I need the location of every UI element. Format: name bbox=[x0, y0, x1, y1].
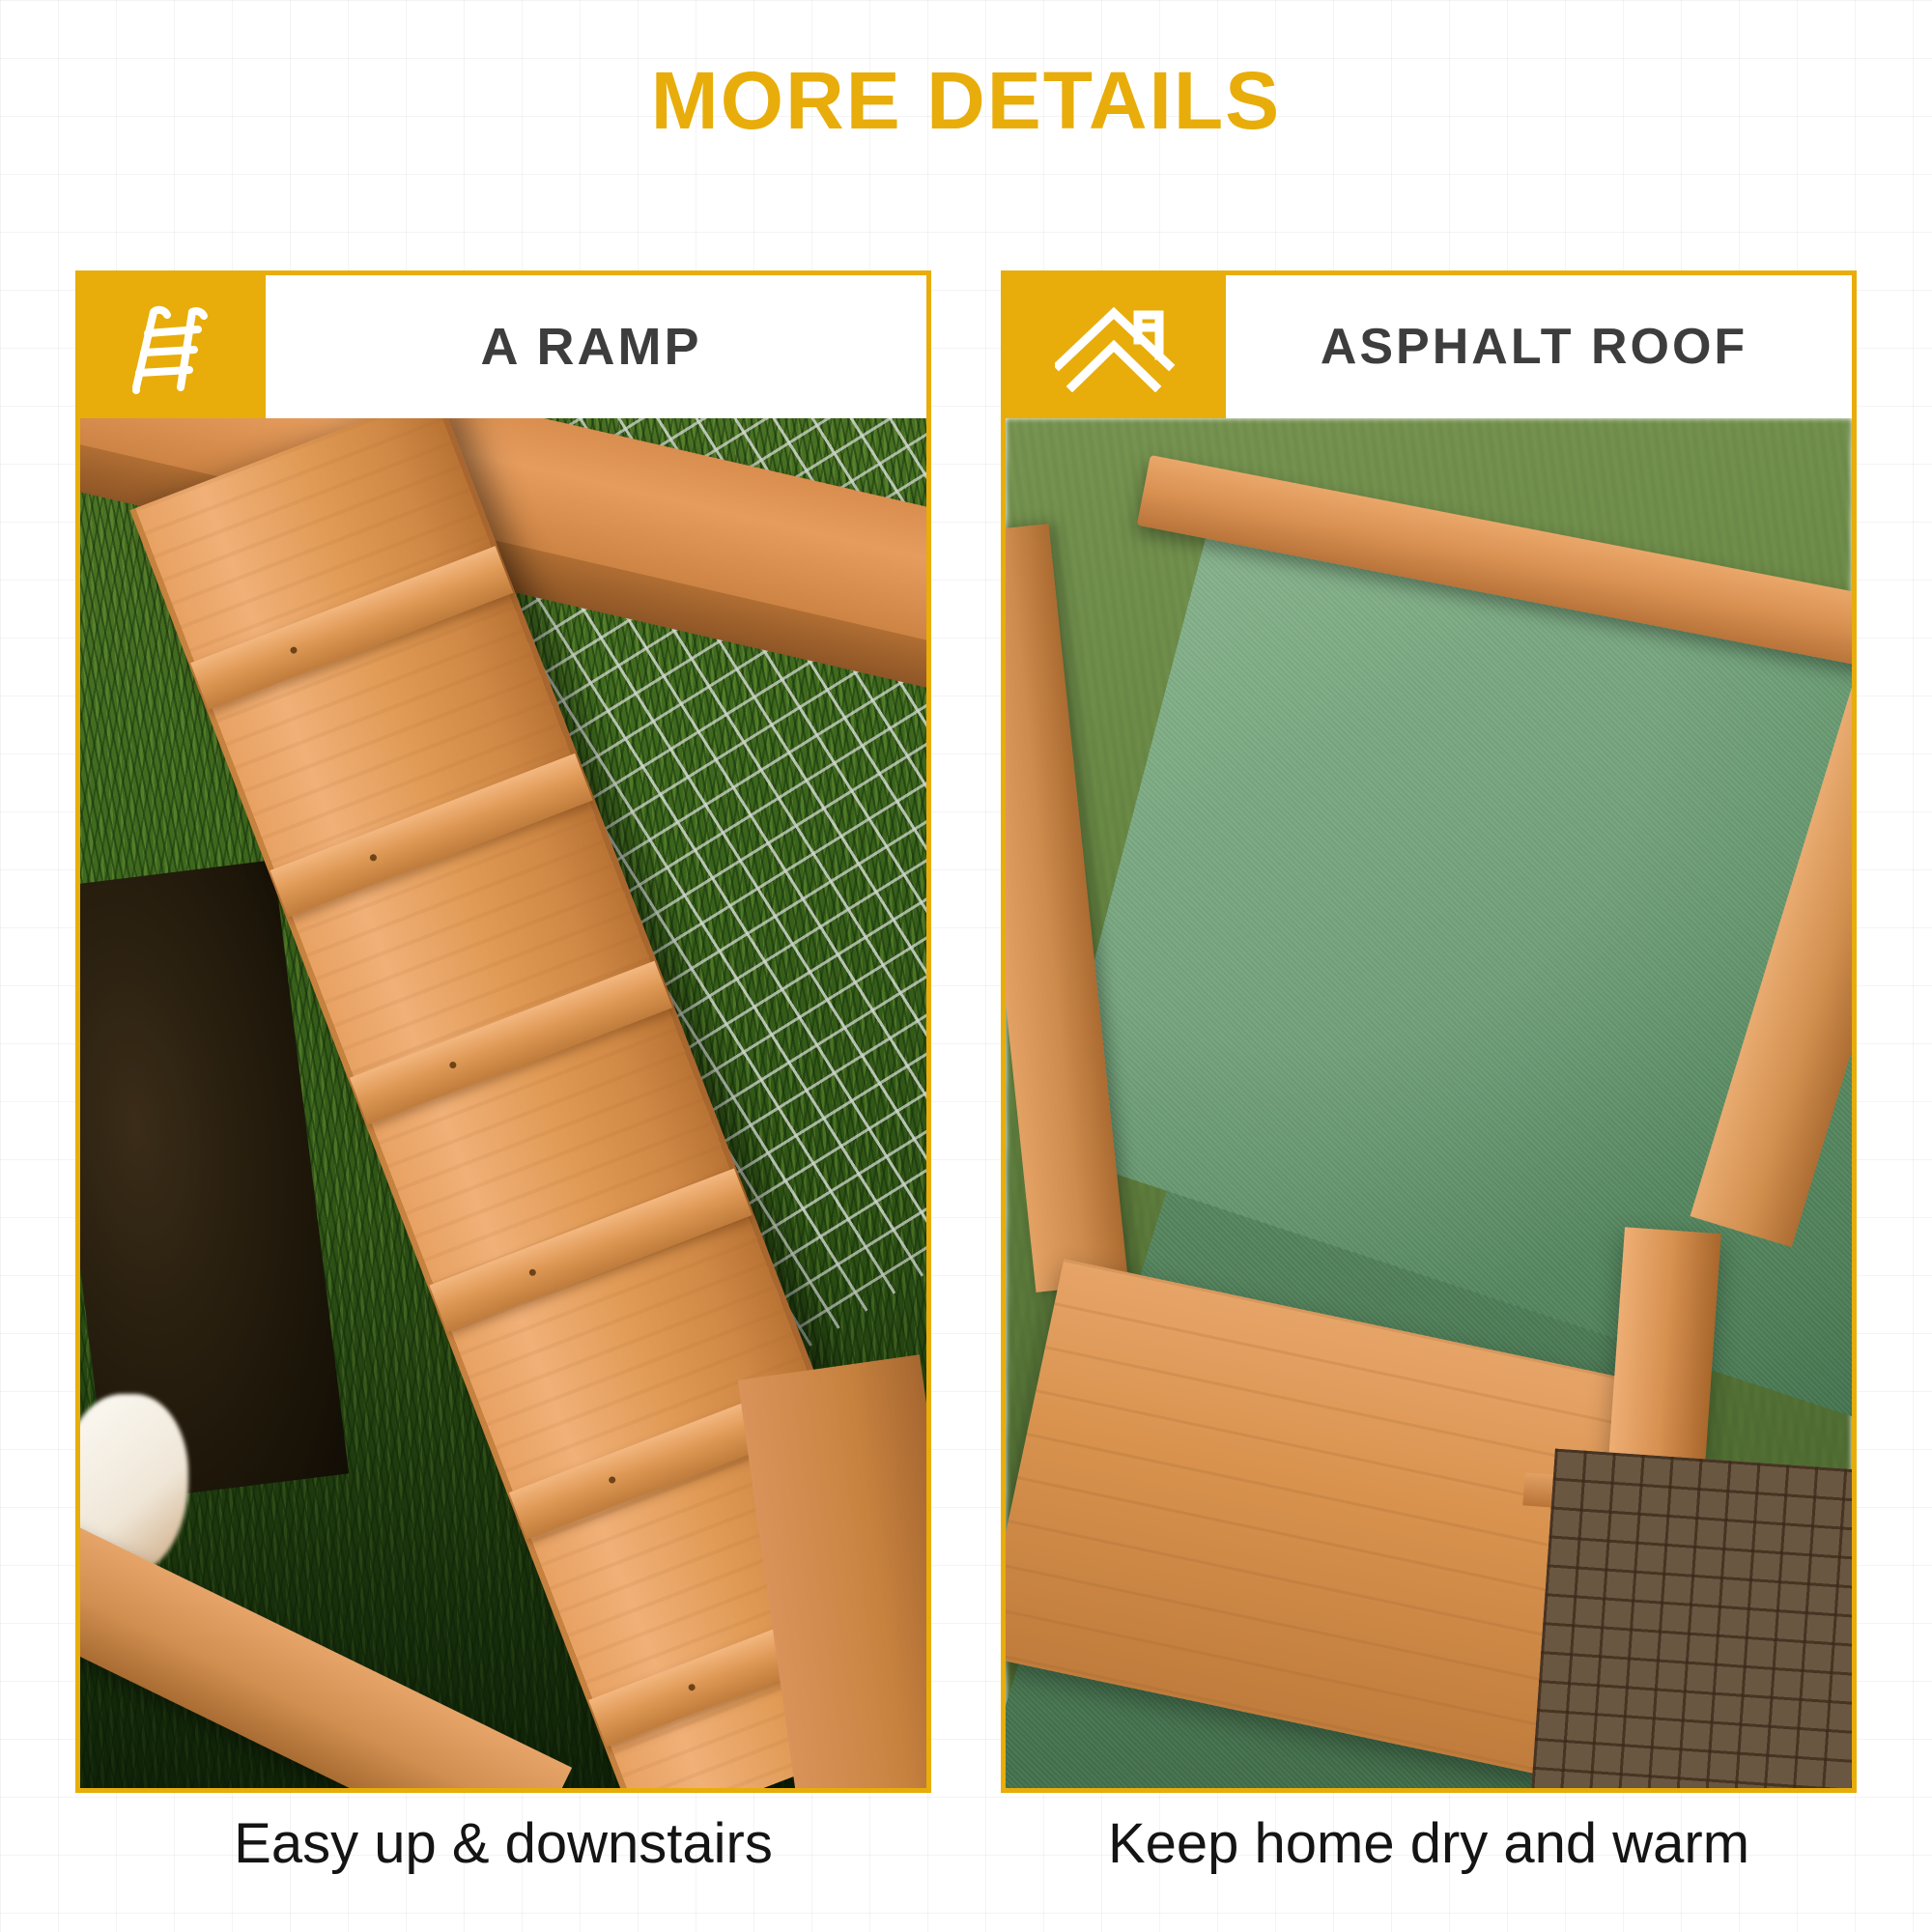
caption-ramp: Easy up & downstairs bbox=[75, 1816, 931, 1872]
more-details-panel: MORE DETAILS bbox=[0, 0, 1932, 1932]
caption-roof: Keep home dry and warm bbox=[1001, 1816, 1857, 1872]
feature-card-roof: ASPHALT ROOF bbox=[1001, 270, 1857, 1793]
roof-with-chimney-icon bbox=[1055, 301, 1177, 392]
card-header-ramp: A RAMP bbox=[80, 275, 926, 418]
icon-badge-roof bbox=[1006, 275, 1226, 418]
photo-roof bbox=[1006, 418, 1852, 1788]
icon-badge-ramp bbox=[80, 275, 266, 418]
card-header-roof: ASPHALT ROOF bbox=[1006, 275, 1852, 418]
card-title-roof: ASPHALT ROOF bbox=[1226, 275, 1852, 418]
feature-card-ramp: A RAMP bbox=[75, 270, 931, 1793]
ladder-icon bbox=[123, 297, 223, 397]
card-title-ramp: A RAMP bbox=[266, 275, 926, 418]
photo-ramp bbox=[80, 418, 926, 1788]
page-title: MORE DETAILS bbox=[0, 60, 1932, 141]
